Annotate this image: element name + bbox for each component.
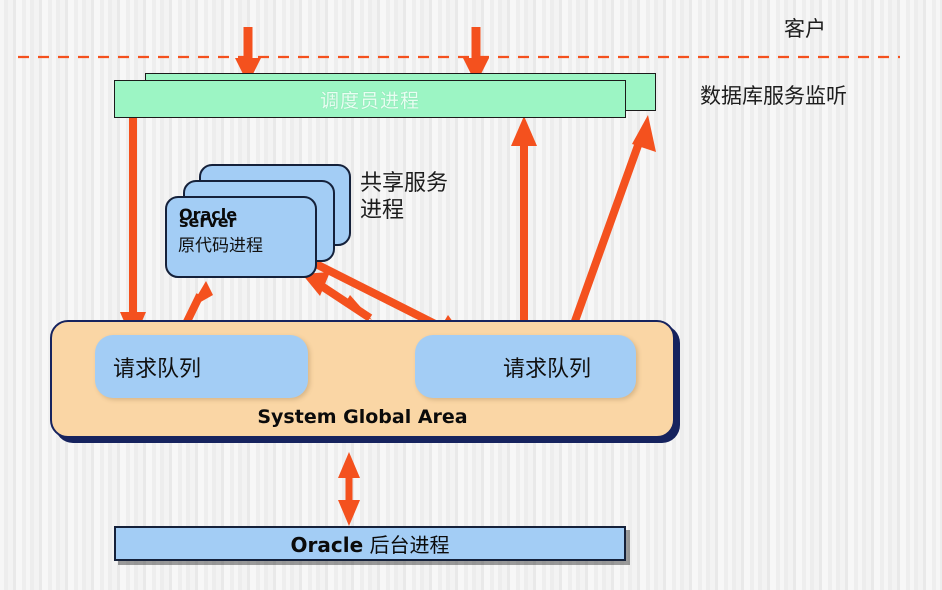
label-shared-server-group: 共享服务 进程 (360, 170, 448, 224)
dispatcher-label: 调度员进程 (320, 86, 420, 113)
arrow-sga-to-background-processes (338, 452, 360, 526)
sga-title: System Global Area (52, 406, 673, 428)
diagram-canvas: 客户 数据库服务监听 调度员进程 Oracle server 原代码进程 共享服… (0, 0, 942, 590)
arrow-sga-to-dispatcher-diagonal (570, 115, 656, 335)
request-queue-right-label: 请求队列 (503, 351, 591, 383)
background-processes-label-cn: 后台进程 (363, 533, 449, 557)
background-processes-label-en: Oracle (291, 533, 364, 557)
shared-server-label-server: server (179, 214, 236, 229)
label-client: 客户 (784, 13, 826, 43)
arrow-request-queue-right-to-dispatcher (511, 116, 537, 335)
request-queue-left[interactable]: 请求队列 (95, 335, 308, 398)
background-processes-label: Oracle 后台进程 (291, 529, 450, 558)
oracle-background-processes-box[interactable]: Oracle 后台进程 (114, 526, 626, 561)
dispatcher-process-box[interactable]: 调度员进程 (114, 80, 626, 118)
arrow-dispatcher-to-request-queue-left (120, 117, 146, 342)
label-database-listener: 数据库服务监听 (700, 80, 847, 110)
shared-server-box-1[interactable]: Oracle server 原代码进程 (165, 196, 317, 278)
request-queue-right[interactable]: 请求队列 (415, 335, 636, 398)
shared-server-label-cn: 原代码进程 (178, 231, 263, 256)
request-queue-left-label: 请求队列 (113, 351, 201, 383)
